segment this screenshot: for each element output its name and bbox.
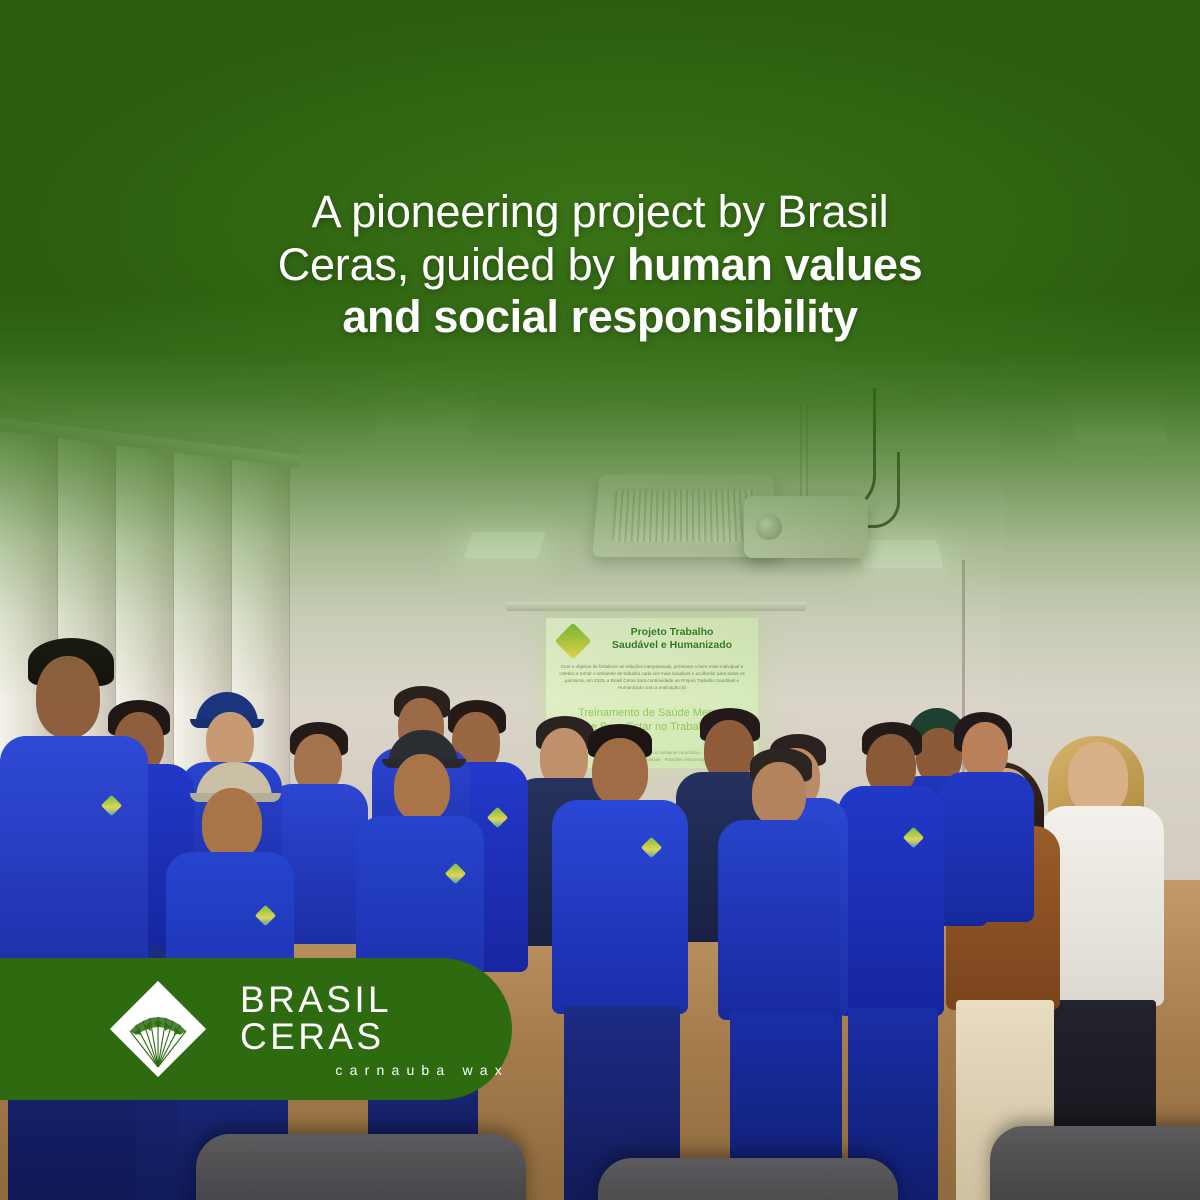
headline-line-1: A pioneering project by Brasil <box>150 186 1050 239</box>
headline-line-2: Ceras, guided by human values <box>150 239 1050 292</box>
ceiling-light <box>1067 400 1167 442</box>
social-media-poster: Projeto Trabalho Saudável e Humanizado C… <box>0 0 1200 1200</box>
projector-lens <box>756 514 782 540</box>
ceiling-light <box>464 532 546 558</box>
screen-body-text: Com o objetivo de fortalecer as relações… <box>554 664 750 692</box>
headline-line-2-bold: human values <box>627 239 922 290</box>
screen-title-line1: Projeto Trabalho <box>631 626 714 638</box>
screen-title: Projeto Trabalho Saudável e Humanizado <box>592 626 752 652</box>
brand-name: BRASIL CERAS <box>240 981 512 1055</box>
chair <box>598 1158 898 1200</box>
chair <box>990 1126 1200 1200</box>
ceiling-light <box>857 540 944 568</box>
projector <box>744 496 868 558</box>
screen-logo-icon <box>558 626 588 656</box>
chair <box>196 1134 526 1200</box>
ceiling-light <box>374 392 479 436</box>
ac-grill <box>610 488 762 544</box>
headline-line-3: and social responsibility <box>150 291 1050 344</box>
screen-title-line2: Saudável e Humanizado <box>612 639 732 651</box>
screen-rail <box>506 602 806 611</box>
headline: A pioneering project by Brasil Ceras, gu… <box>150 186 1050 344</box>
brand-logo-pill: BRASIL CERAS carnauba wax <box>0 958 512 1100</box>
brand-logo-text: BRASIL CERAS carnauba wax <box>240 981 512 1078</box>
brand-tagline: carnauba wax <box>240 1062 512 1078</box>
headline-line-2-light: Ceras, guided by <box>278 239 627 290</box>
carnauba-palm-diamond-icon <box>110 981 206 1077</box>
